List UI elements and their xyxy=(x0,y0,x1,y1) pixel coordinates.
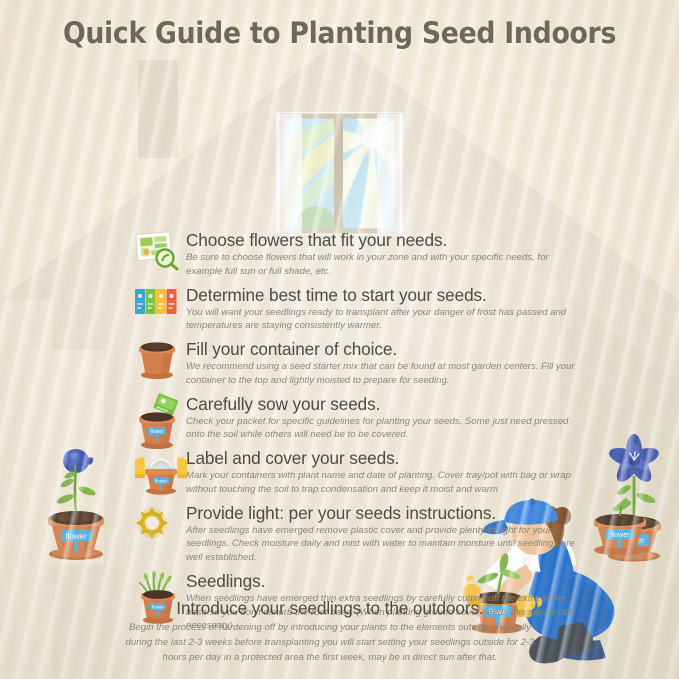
step-item: Determine best time to start your seeds.… xyxy=(134,285,579,334)
seed-packets-icon xyxy=(134,285,186,317)
sun-light-icon xyxy=(134,503,186,540)
svg-text:flower: flower xyxy=(155,479,168,484)
step-body: Be sure to choose flowers that will work… xyxy=(186,251,579,278)
page-title: Quick Guide to Planting Seed Indoors xyxy=(27,16,652,50)
step-item: Choose flowers that fit your needs. Be s… xyxy=(134,230,579,279)
step-heading: Provide light: per your seeds instructio… xyxy=(186,503,579,523)
step-heading: Label and cover your seeds. xyxy=(186,448,579,468)
flower-stem xyxy=(75,467,76,515)
filled-pot-icon xyxy=(134,339,186,381)
step-item: Fill your container of choice. We recomm… xyxy=(134,339,579,388)
step-body: We recommend using a seed starter mix th… xyxy=(186,360,579,387)
footer-heading: Introduce your seedlings to the outdoors… xyxy=(120,598,540,619)
step-item: Provide light: per your seeds instructio… xyxy=(134,503,579,565)
pot-soil xyxy=(141,412,173,421)
step-body: After seedlings have emerged remove plas… xyxy=(186,524,579,565)
step-item: flower Label and cover your seeds. xyxy=(134,448,579,497)
covered-pot-gloves-icon: flower xyxy=(134,448,186,496)
potted-flower-left: flower xyxy=(34,415,118,565)
svg-text:flower: flower xyxy=(610,530,630,539)
svg-text:flower: flower xyxy=(65,532,87,541)
footer-block: Introduce your seedlings to the outdoors… xyxy=(120,598,540,666)
pot-rim xyxy=(145,469,177,475)
sowing-seeds-icon: flower xyxy=(134,394,186,450)
infographic-poster: Quick Guide to Planting Seed Indoors xyxy=(0,0,679,679)
steps-list: Choose flowers that fit your needs. Be s… xyxy=(134,230,579,639)
step-body: Mark your containers with plant name and… xyxy=(186,469,579,496)
seed-catalog-icon xyxy=(134,230,186,270)
window-mullion xyxy=(334,116,343,231)
step-heading: Choose flowers that fit your needs. xyxy=(186,230,579,250)
house-chimney xyxy=(138,60,178,158)
window-illustration xyxy=(276,110,403,237)
step-item: flower Carefully sow your seeds. Check y… xyxy=(134,394,579,443)
step-body: Check your packet for specific guideline… xyxy=(186,415,579,442)
glove-left-icon xyxy=(135,457,145,478)
blue-flower-bud xyxy=(63,449,93,480)
svg-text:flower: flower xyxy=(150,429,164,435)
step-heading: Fill your container of choice. xyxy=(186,339,579,359)
step-body: You will want your seedlings ready to tr… xyxy=(186,306,579,333)
glove-right-icon xyxy=(177,457,187,478)
footer-body: Begin the process of hardening off by in… xyxy=(120,621,540,666)
step-heading: Determine best time to start your seeds. xyxy=(186,285,579,305)
background-potted-plant: flower xyxy=(594,497,646,555)
step-heading: Carefully sow your seeds. xyxy=(186,394,579,414)
step-heading: Seedlings. xyxy=(186,571,579,591)
